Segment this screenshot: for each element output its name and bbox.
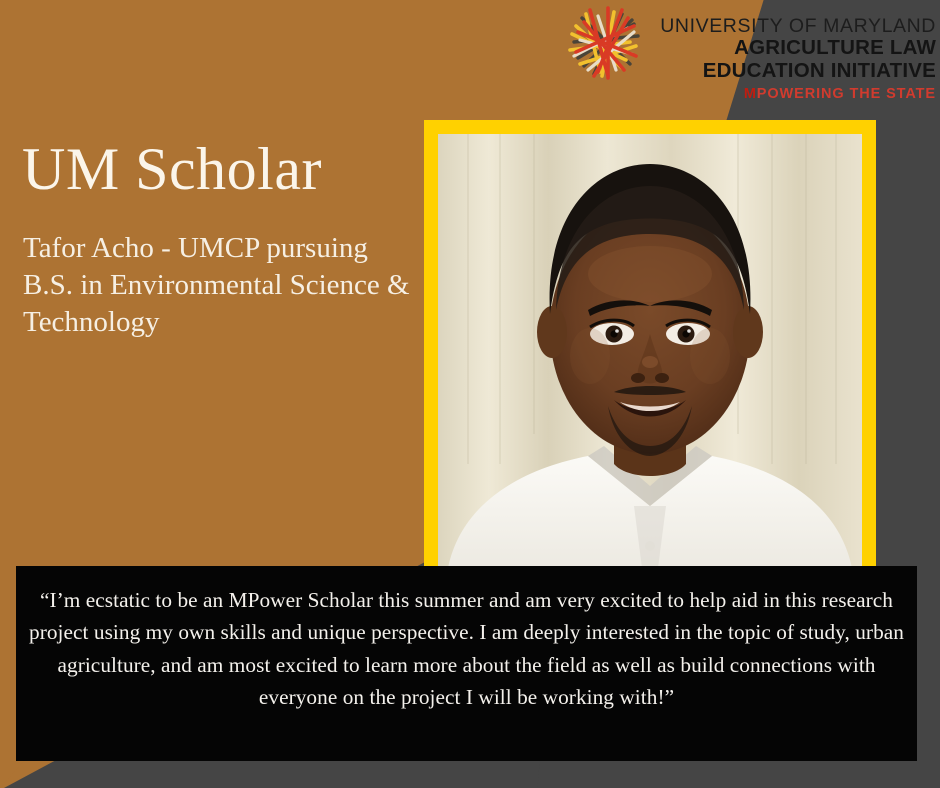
tagline-m-letter: M xyxy=(744,86,757,102)
page-title: UM Scholar xyxy=(22,139,322,199)
brand-line-university: UNIVERSITY OF MARYLAND xyxy=(660,16,936,37)
poster-canvas: UNIVERSITY OF MARYLAND AGRICULTURE LAW E… xyxy=(0,0,940,788)
starburst-logo-icon xyxy=(564,6,650,98)
brand-tagline: MPOWERING THE STATE xyxy=(660,85,936,103)
brand-line-education-initiative: EDUCATION INITIATIVE xyxy=(660,60,936,83)
quote-text: “I’m ecstatic to be an MPower Scholar th… xyxy=(27,584,907,713)
quote-panel: “I’m ecstatic to be an MPower Scholar th… xyxy=(16,566,917,761)
student-description: Tafor Acho - UMCP pursuing B.S. in Envir… xyxy=(23,230,413,341)
brand-line-agriculture-law: AGRICULTURE LAW xyxy=(660,37,936,60)
photo-frame xyxy=(424,120,876,568)
brand-wordmark: UNIVERSITY OF MARYLAND AGRICULTURE LAW E… xyxy=(660,6,936,103)
student-portrait-photo xyxy=(438,134,862,568)
tagline-remainder: POWERING THE STATE xyxy=(757,86,936,102)
brand-header: UNIVERSITY OF MARYLAND AGRICULTURE LAW E… xyxy=(564,6,936,103)
